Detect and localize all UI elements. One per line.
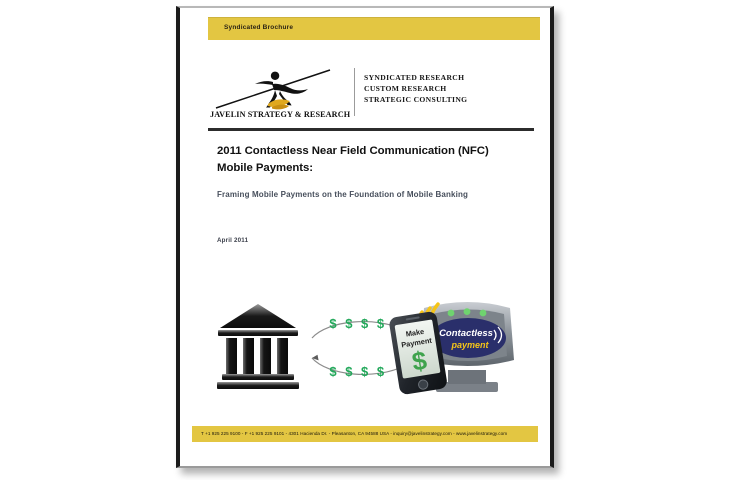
document-page: Syndicated Brochure JAVELIN S (176, 6, 554, 468)
banner-label: Syndicated Brochure (224, 24, 293, 31)
terminal-label-line2: payment (450, 340, 489, 350)
tagline-custom-research: CUSTOM RESEARCH (364, 83, 467, 94)
screenshot-canvas: Syndicated Brochure JAVELIN S (0, 0, 730, 480)
document-title: 2011 Contactless Near Field Communicatio… (217, 143, 527, 177)
tagline-syndicated-research: SYNDICATED RESEARCH (364, 72, 467, 83)
document-date: April 2011 (217, 237, 248, 244)
logo-wordmark: JAVELIN STRATEGY & RESEARCH (210, 110, 348, 119)
tagline-strategic-consulting: STRATEGIC CONSULTING (364, 94, 467, 105)
terminal-label-line1: Contactless (439, 328, 493, 339)
flow-top-dollars: $ $ $ $ (329, 316, 386, 331)
mobile-payment-illustration: $ $ $ $ $ $ $ $ Contactless payment (208, 290, 526, 410)
header-divider-rule (208, 128, 534, 131)
javelin-thrower-icon (212, 66, 344, 114)
bank-building-icon (217, 304, 299, 389)
document-subtitle: Framing Mobile Payments on the Foundatio… (217, 190, 527, 199)
logo-divider (354, 68, 355, 116)
logo-taglines: SYNDICATED RESEARCH CUSTOM RESEARCH STRA… (364, 72, 467, 106)
flow-bottom-dollars: $ $ $ $ (329, 364, 386, 379)
syndicated-brochure-banner: Syndicated Brochure (208, 17, 540, 40)
footer-contact-text: T +1 925 225 9100 - F +1 925 225 9101 - … (201, 431, 507, 436)
contact-footer-bar: T +1 925 225 9100 - F +1 925 225 9101 - … (192, 426, 538, 442)
company-logo-block: JAVELIN STRATEGY & RESEARCH SYNDICATED R… (208, 66, 454, 124)
